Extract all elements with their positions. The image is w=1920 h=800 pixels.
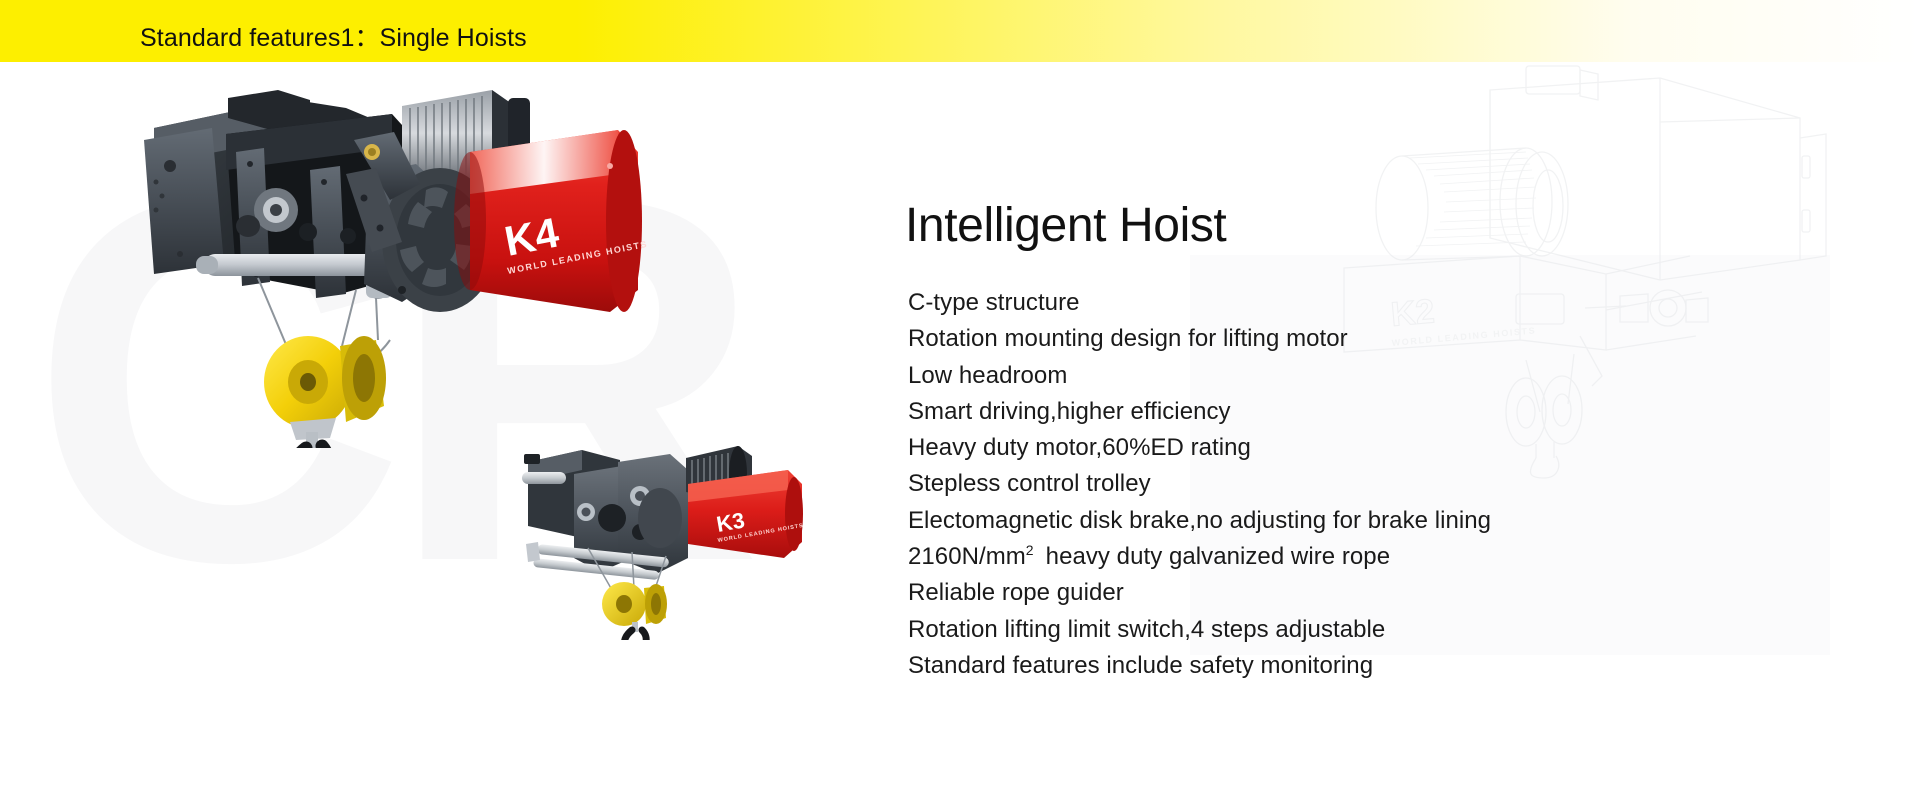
feature-item: Rotation mounting design for lifting mot… — [908, 321, 1608, 357]
feature-list: C-type structureRotation mounting design… — [908, 285, 1608, 684]
product-image-k4: K4 WORLD LEADING HOISTS — [140, 78, 720, 448]
product-image-k3: K3 WORLD LEADING HOISTS — [520, 440, 820, 640]
feature-item: C-type structure — [908, 285, 1608, 321]
feature-item: Electomagnetic disk brake,no adjusting f… — [908, 503, 1608, 539]
feature-item: Stepless control trolley — [908, 466, 1608, 502]
feature-superscript: 2 — [1026, 542, 1034, 558]
feature-item: Heavy duty motor,60%ED rating — [908, 430, 1608, 466]
feature-item: Smart driving,higher efficiency — [908, 394, 1608, 430]
k3-model-label: K3 — [715, 507, 747, 537]
feature-item: Low headroom — [908, 358, 1608, 394]
feature-item: Reliable rope guider — [908, 575, 1608, 611]
feature-item: Rotation lifting limit switch,4 steps ad… — [908, 612, 1608, 648]
feature-item: Standard features include safety monitor… — [908, 648, 1608, 684]
feature-item: 2160N/mm2 heavy duty galvanized wire rop… — [908, 539, 1608, 575]
banner-title: Standard features1：Single Hoists — [140, 18, 527, 54]
header-banner: Standard features1：Single Hoists — [0, 0, 1920, 62]
slide-root: CR K2 WORLD LEADING HOISTS — [0, 0, 1920, 800]
page-title: Intelligent Hoist — [905, 198, 1226, 253]
